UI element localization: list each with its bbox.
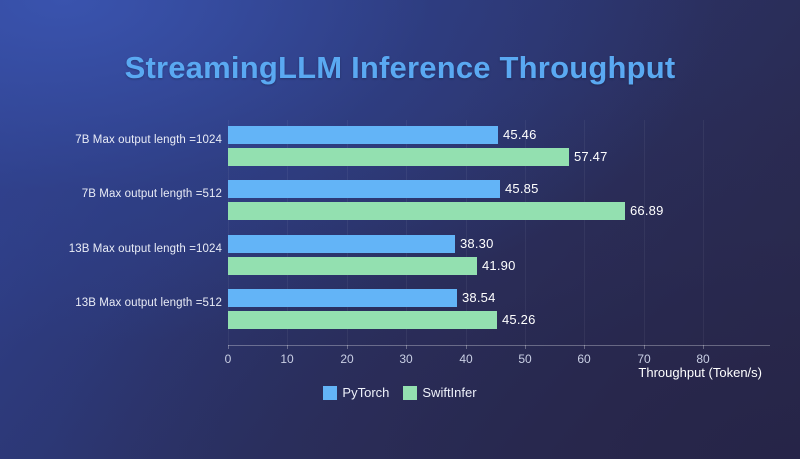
- x-tick-label: 60: [564, 352, 604, 366]
- legend-item-swiftinfer[interactable]: SwiftInfer: [403, 385, 476, 400]
- legend-swatch-icon: [403, 386, 417, 400]
- x-tick-label: 30: [386, 352, 426, 366]
- bar-pytorch[interactable]: [228, 126, 498, 144]
- bar-value-label: 45.85: [505, 180, 539, 198]
- bar-pytorch[interactable]: [228, 235, 455, 253]
- x-axis-tick: [703, 345, 704, 349]
- legend-swatch-icon: [323, 386, 337, 400]
- x-axis-tick: [347, 345, 348, 349]
- bar-value-label: 38.54: [462, 289, 496, 307]
- x-tick-label: 20: [327, 352, 367, 366]
- chart-legend: PyTorch SwiftInfer: [0, 385, 800, 400]
- x-tick-label: 80: [683, 352, 723, 366]
- bar-swiftinfer[interactable]: [228, 148, 569, 166]
- bar-value-label: 66.89: [630, 202, 664, 220]
- bar-swiftinfer[interactable]: [228, 257, 477, 275]
- category-label: 7B Max output length =512: [0, 188, 222, 200]
- x-tick-label: 40: [446, 352, 486, 366]
- chart-title: StreamingLLM Inference Throughput: [0, 50, 800, 86]
- bar-value-label: 45.46: [503, 126, 537, 144]
- x-tick-label: 10: [267, 352, 307, 366]
- category-label: 7B Max output length =1024: [0, 134, 222, 146]
- x-axis-tick: [406, 345, 407, 349]
- bar-value-label: 38.30: [460, 235, 494, 253]
- bar-swiftinfer[interactable]: [228, 202, 625, 220]
- x-axis-tick: [466, 345, 467, 349]
- gridline-80: [703, 120, 704, 345]
- bar-swiftinfer[interactable]: [228, 311, 497, 329]
- x-axis-line: [228, 345, 770, 346]
- legend-item-pytorch[interactable]: PyTorch: [323, 385, 389, 400]
- bar-value-label: 45.26: [502, 311, 536, 329]
- x-axis-tick: [228, 345, 229, 349]
- legend-label: SwiftInfer: [422, 385, 476, 400]
- x-axis-title: Throughput (Token/s): [638, 365, 762, 380]
- bar-pytorch[interactable]: [228, 180, 500, 198]
- x-axis-tick: [525, 345, 526, 349]
- x-axis-tick: [644, 345, 645, 349]
- x-axis-tick: [287, 345, 288, 349]
- legend-label: PyTorch: [342, 385, 389, 400]
- bar-value-label: 41.90: [482, 257, 516, 275]
- x-tick-label: 70: [624, 352, 664, 366]
- bar-pytorch[interactable]: [228, 289, 457, 307]
- bar-value-label: 57.47: [574, 148, 608, 166]
- gridline-70: [644, 120, 645, 345]
- x-tick-label: 0: [208, 352, 248, 366]
- chart-canvas: StreamingLLM Inference Throughput 7B Max…: [0, 0, 800, 459]
- x-tick-label: 50: [505, 352, 545, 366]
- x-axis-tick: [584, 345, 585, 349]
- category-label: 13B Max output length =512: [0, 297, 222, 309]
- category-label: 13B Max output length =1024: [0, 243, 222, 255]
